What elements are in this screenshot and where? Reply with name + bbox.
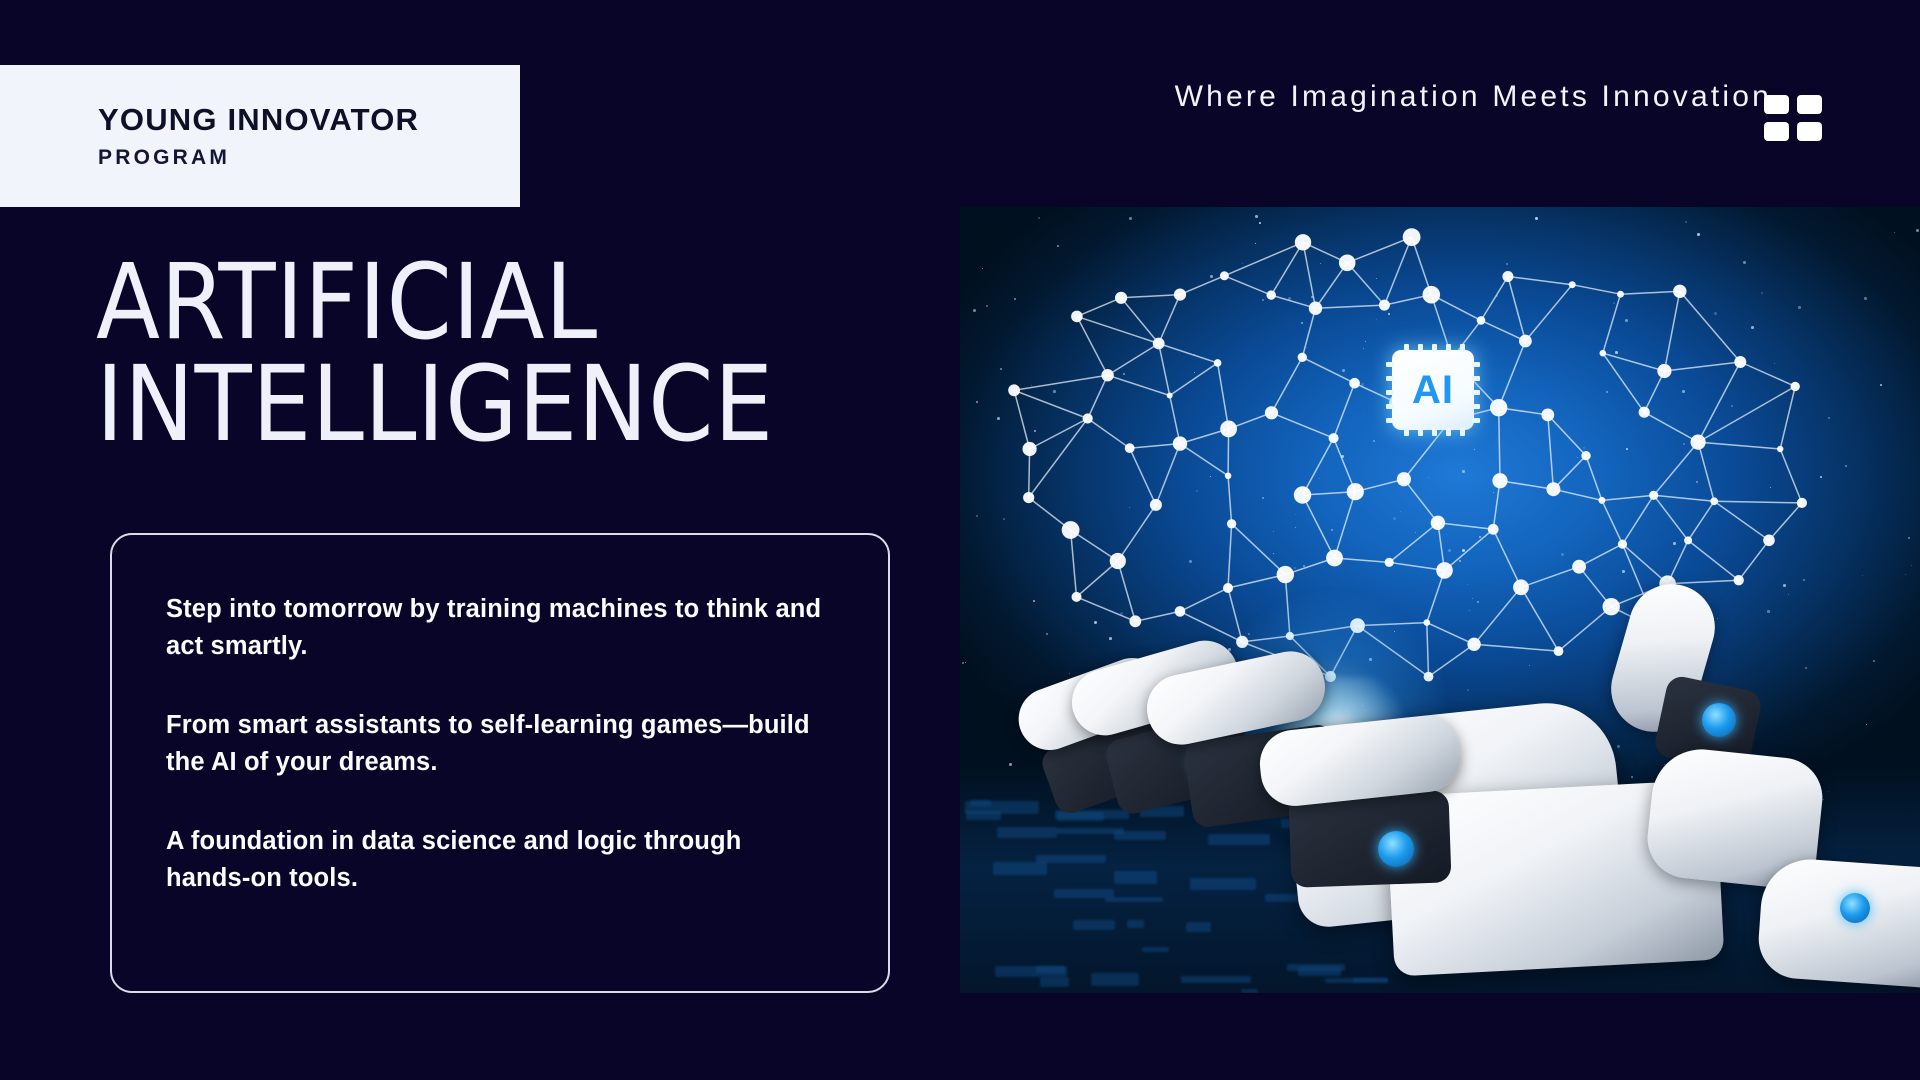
slide-root: YOUNG INNOVATOR PROGRAM ARTIFICIAL INTEL… <box>0 0 1920 1080</box>
joint-4 <box>1378 831 1414 867</box>
robot-hand <box>960 563 1920 993</box>
description-paragraph-2: From smart assistants to self-learning g… <box>166 707 832 781</box>
tagline: Where Imagination Meets Innovation <box>1175 80 1772 114</box>
knuckle-4 <box>1288 790 1451 888</box>
grid-square-3 <box>1764 122 1789 141</box>
badge-title: YOUNG INNOVATOR <box>98 102 520 138</box>
wrist <box>1756 856 1920 990</box>
thumb-joint <box>1702 703 1736 737</box>
ai-chip-icon: AI <box>1386 344 1480 436</box>
page-title: ARTIFICIAL INTELLIGENCE <box>96 252 916 456</box>
grid-square-4 <box>1797 122 1822 141</box>
wrist-joint <box>1840 893 1870 923</box>
badge-subtitle: PROGRAM <box>98 146 520 170</box>
description-paragraph-1: Step into tomorrow by training machines … <box>166 591 832 665</box>
headline-line-2: INTELLIGENCE <box>96 354 916 456</box>
grid-square-2 <box>1797 95 1822 114</box>
grid-square-1 <box>1764 95 1789 114</box>
description-box: Step into tomorrow by training machines … <box>110 533 890 993</box>
chip-body: AI <box>1392 350 1474 430</box>
program-badge: YOUNG INNOVATOR PROGRAM <box>0 65 520 207</box>
ai-hero-image: AI <box>960 207 1920 993</box>
description-paragraph-3: A foundation in data science and logic t… <box>166 823 832 897</box>
grid-2x2-icon <box>1764 95 1822 139</box>
chip-label: AI <box>1412 368 1454 413</box>
